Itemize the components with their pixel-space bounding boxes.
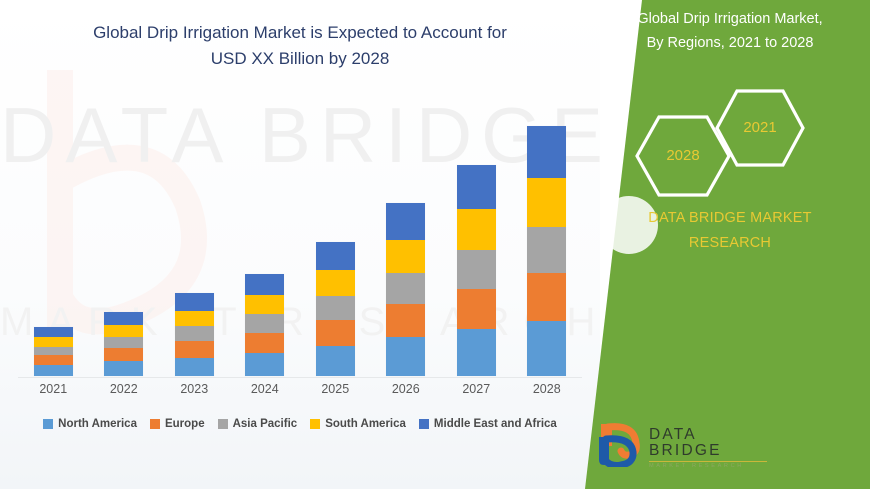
legend-swatch-icon	[218, 419, 228, 429]
x-tick-label: 2022	[92, 382, 156, 396]
legend-item[interactable]: Middle East and Africa	[419, 418, 557, 430]
logo-b-icon	[595, 421, 643, 467]
stacked-bar	[104, 312, 143, 376]
bar-column-2021	[21, 60, 85, 376]
legend-item[interactable]: Europe	[150, 418, 205, 430]
bar-segment	[527, 321, 566, 376]
stacked-bar	[34, 327, 73, 376]
logo-text: DATA BRIDGE MARKET RESEARCH	[649, 427, 770, 470]
bar-column-2022	[92, 60, 156, 376]
bar-segment	[175, 326, 214, 341]
legend-label: Asia Pacific	[233, 418, 298, 430]
bar-segment	[386, 273, 425, 304]
bar-segment	[457, 289, 496, 329]
bar-segment	[457, 250, 496, 289]
bar-segment	[386, 337, 425, 376]
logo-name: DATA BRIDGE	[649, 427, 770, 458]
bar-segment	[527, 126, 566, 178]
bar-segment	[175, 311, 214, 327]
bar-segment	[457, 329, 496, 376]
bar-segment	[316, 242, 355, 270]
hexagon-group: 2021 2028	[628, 88, 848, 192]
logo-subtitle: MARKET RESEARCH	[649, 464, 770, 470]
bar-column-2023	[162, 60, 226, 376]
logo-divider	[649, 461, 767, 462]
bar-segment	[316, 270, 355, 296]
legend-label: North America	[58, 418, 137, 430]
x-tick-label: 2023	[162, 382, 226, 396]
x-axis-line	[18, 377, 582, 378]
bar-segment	[316, 320, 355, 346]
bar-segment	[104, 361, 143, 376]
bar-segment	[34, 355, 73, 365]
panel-brand-text: DATA BRIDGE MARKET RESEARCH	[600, 206, 860, 255]
stacked-bar	[386, 203, 425, 376]
panel-title-line2: By Regions, 2021 to 2028	[647, 35, 814, 51]
x-tick-label: 2027	[444, 382, 508, 396]
bar-segment	[527, 178, 566, 227]
bar-segment	[245, 295, 284, 314]
bar-segment	[245, 333, 284, 353]
stacked-bar	[316, 242, 355, 376]
panel-brand-line2: RESEARCH	[689, 235, 771, 251]
legend-item[interactable]: North America	[43, 418, 137, 430]
bar-group	[18, 60, 582, 376]
bar-column-2025	[303, 60, 367, 376]
bar-segment	[316, 296, 355, 320]
stacked-bar	[527, 126, 566, 376]
legend-item[interactable]: Asia Pacific	[218, 418, 298, 430]
bar-segment	[457, 209, 496, 250]
bar-segment	[34, 327, 73, 337]
x-tick-label: 2021	[21, 382, 85, 396]
bar-column-2027	[444, 60, 508, 376]
x-axis-tick-labels: 20212022202320242025202620272028	[18, 382, 582, 396]
stacked-bar	[457, 165, 496, 376]
bar-segment	[34, 347, 73, 355]
legend-item[interactable]: South America	[310, 418, 406, 430]
legend-swatch-icon	[150, 419, 160, 429]
bar-segment	[104, 348, 143, 361]
bar-segment	[245, 353, 284, 376]
stacked-bar	[175, 293, 214, 376]
bar-segment	[34, 365, 73, 376]
x-tick-label: 2026	[374, 382, 438, 396]
bar-segment	[457, 165, 496, 209]
chart-legend: North AmericaEuropeAsia PacificSouth Ame…	[0, 418, 600, 430]
legend-label: South America	[325, 418, 406, 430]
panel-title-line1: Global Drip Irrigation Market,	[637, 11, 822, 27]
hexagon-2028: 2028	[634, 114, 732, 198]
bar-segment	[104, 337, 143, 348]
x-tick-label: 2024	[233, 382, 297, 396]
bar-segment	[175, 293, 214, 310]
bar-segment	[245, 314, 284, 332]
bar-segment	[386, 240, 425, 273]
bar-column-2028	[515, 60, 579, 376]
bar-segment	[316, 346, 355, 376]
legend-swatch-icon	[43, 419, 53, 429]
legend-swatch-icon	[419, 419, 429, 429]
plot-area	[18, 60, 582, 376]
bar-segment	[34, 337, 73, 346]
hexagon-2028-label: 2028	[634, 147, 732, 164]
chart-infographic: DATA BRIDGE MARKET RESEARCH Global Drip …	[0, 0, 870, 489]
chart-title-line1: Global Drip Irrigation Market is Expecte…	[93, 23, 507, 42]
bar-segment	[245, 274, 284, 295]
bar-segment	[386, 304, 425, 337]
bar-segment	[527, 273, 566, 321]
legend-label: Middle East and Africa	[434, 418, 557, 430]
x-tick-label: 2025	[303, 382, 367, 396]
bar-column-2024	[233, 60, 297, 376]
legend-label: Europe	[165, 418, 205, 430]
bar-segment	[175, 358, 214, 376]
chart-panel: DATA BRIDGE MARKET RESEARCH Global Drip …	[0, 0, 600, 489]
bar-segment	[175, 341, 214, 358]
bar-segment	[386, 203, 425, 240]
bar-segment	[104, 325, 143, 337]
company-logo: DATA BRIDGE MARKET RESEARCH	[595, 421, 770, 467]
bar-column-2026	[374, 60, 438, 376]
panel-brand-line1: DATA BRIDGE MARKET	[648, 210, 811, 226]
panel-title: Global Drip Irrigation Market, By Region…	[590, 8, 870, 56]
legend-swatch-icon	[310, 419, 320, 429]
bar-segment	[104, 312, 143, 326]
x-tick-label: 2028	[515, 382, 579, 396]
bar-segment	[527, 227, 566, 273]
stacked-bar	[245, 274, 284, 376]
